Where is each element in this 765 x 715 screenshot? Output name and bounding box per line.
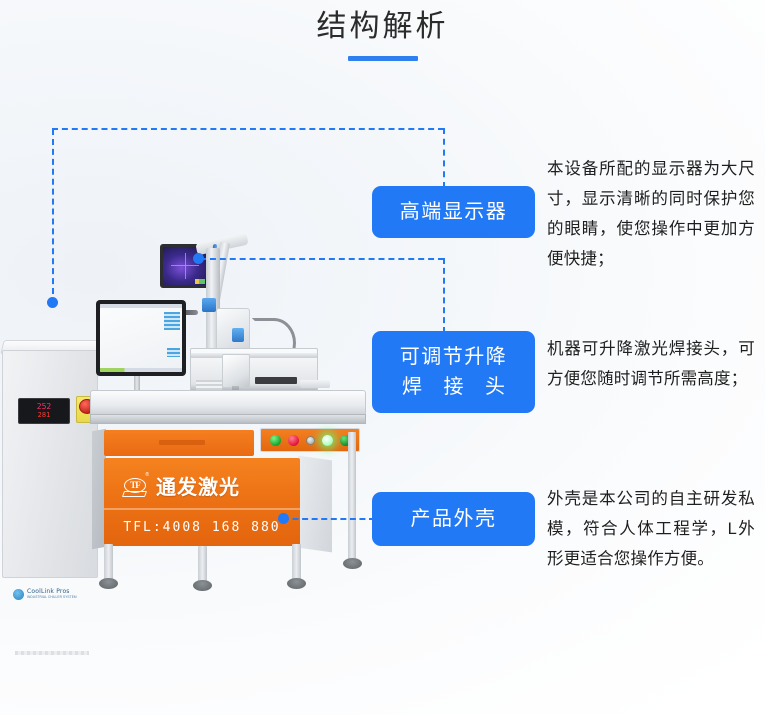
table-leg: [348, 432, 356, 560]
blue-actuator-block-upper: [202, 298, 216, 312]
software-toolbar: [100, 304, 182, 308]
software-status-bar: [100, 368, 182, 372]
chiller-brand: CoolLink Pros INDUSTRIAL CHILLER SYSTEM: [13, 587, 79, 601]
connector-2-horizontal: [200, 258, 444, 260]
callout-label-display[interactable]: 高端显示器: [372, 186, 535, 238]
callout-description-housing: 外壳是本公司的自主研发私模，符合人体工程学，L外形更适合您操作方便。: [547, 484, 755, 574]
table-foot: [343, 558, 362, 569]
power-indicator-lamp: [322, 435, 333, 446]
machine-cabinet-front: TF ® 通发激光 TFL:4008 168 880: [104, 458, 300, 546]
worktable-edge: [90, 414, 366, 424]
callout-label-housing-text: 产品外壳: [411, 504, 497, 534]
connector-1-dot: [47, 297, 58, 308]
cabinet-upper-orange-panel: [104, 430, 254, 456]
control-button-panel: [260, 428, 360, 452]
stage-linear-scale: [255, 377, 297, 384]
connector-3-dot: [278, 513, 289, 524]
chiller-setpoint-value: 281: [38, 411, 51, 420]
snowflake-icon: [13, 589, 24, 600]
title-underline: [348, 56, 418, 61]
cabinet-panel-divider: [104, 508, 300, 510]
table-foot: [99, 578, 118, 589]
software-side-panel: [164, 312, 180, 330]
callout-label-welding-head-line1: 可调节升降: [400, 342, 508, 372]
machine-phone-number: TFL:4008 168 880: [123, 520, 280, 535]
stop-button-red[interactable]: [288, 435, 299, 446]
phone-band: TFL:4008 168 880: [104, 514, 300, 540]
operator-monitor: [96, 300, 186, 376]
connector-1-vertical-left: [52, 129, 54, 304]
callout-description-display: 本设备所配的显示器为大尺寸，显示清晰的同时保护您的眼睛，使您操作中更加方便快捷；: [547, 154, 755, 274]
connector-1-vertical-right: [443, 128, 445, 188]
chiller-vent: [15, 651, 89, 655]
connector-2-vertical: [443, 258, 445, 333]
page-title: 结构解析: [0, 6, 765, 48]
callout-description-welding-head: 机器可升降激光焊接头，可方便您随时调节所需高度；: [547, 334, 755, 394]
trademark-icon: ®: [145, 472, 149, 478]
chiller-cabinet: CoolLink Pros INDUSTRIAL CHILLER SYSTEM: [2, 350, 98, 578]
operator-monitor-screen: [100, 304, 182, 372]
machine-brand-name: 通发激光: [156, 471, 240, 500]
crosshair-vertical-icon: [185, 253, 186, 279]
vision-status-leds: [195, 279, 205, 284]
workpiece-fixture: [300, 380, 330, 388]
connector-2-dot: [193, 253, 204, 264]
table-foot: [287, 578, 306, 589]
table-foot: [193, 580, 212, 591]
table-leg: [198, 546, 207, 584]
page-root: 结构解析 CoolLink Pros INDUSTRIAL CHILLER SY…: [0, 0, 765, 715]
software-side-panel-secondary: [167, 348, 180, 357]
connector-1-horizontal: [52, 128, 444, 130]
start-button-green[interactable]: [270, 435, 281, 446]
chiller-temperature-value: 252: [37, 402, 51, 411]
blue-actuator-block-lower: [232, 328, 244, 342]
stage-vent: [196, 380, 222, 390]
stage-rail-top: [191, 353, 317, 358]
chiller-display: 252 281: [18, 398, 70, 424]
callout-label-welding-head[interactable]: 可调节升降 焊 接 头: [372, 331, 535, 413]
callout-label-welding-head-line2: 焊 接 头: [394, 372, 513, 402]
callout-label-housing[interactable]: 产品外壳: [372, 492, 535, 546]
tf-logo-icon: TF ®: [122, 473, 148, 497]
stage-carriage: [222, 354, 250, 388]
machine-illustration: CoolLink Pros INDUSTRIAL CHILLER SYSTEM …: [0, 140, 380, 610]
brand-band: TF ® 通发激光: [104, 468, 300, 502]
cabinet-right-face: [298, 456, 332, 553]
worktable-top: [90, 390, 366, 416]
table-leg: [104, 544, 113, 582]
table-leg: [292, 544, 301, 582]
tf-logo-underbar: [122, 491, 147, 497]
chiller-brand-sublabel: INDUSTRIAL CHILLER SYSTEM: [27, 595, 77, 599]
callout-label-display-text: 高端显示器: [400, 197, 508, 227]
connector-3-horizontal: [283, 518, 375, 520]
cabinet-drawer-handle[interactable]: [159, 440, 205, 445]
key-switch[interactable]: [306, 436, 315, 445]
title-block: 结构解析: [0, 6, 765, 61]
